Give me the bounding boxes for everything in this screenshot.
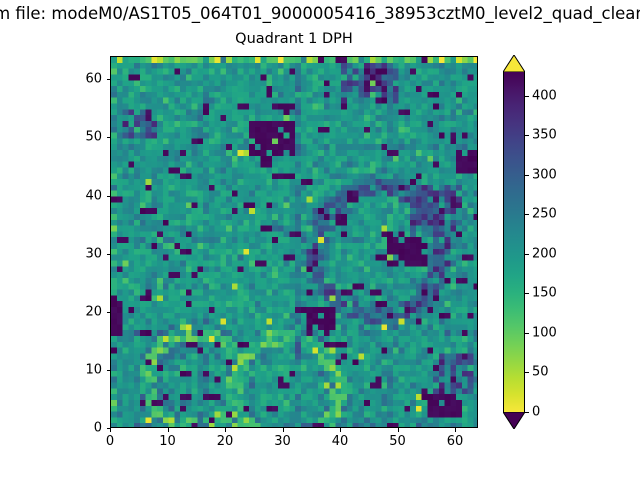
axes-title: Quadrant 1 DPH xyxy=(110,30,478,48)
x-tick-label: 0 xyxy=(106,434,114,449)
figure-suptitle: m file: modeM0/AS1T05_064T01_9000005416_… xyxy=(0,4,640,24)
colorbar-tick-mark xyxy=(525,293,529,294)
x-tick-mark xyxy=(340,428,341,432)
x-tick-mark xyxy=(455,428,456,432)
y-tick-mark xyxy=(107,254,111,255)
y-tick-mark xyxy=(107,312,111,313)
x-tick-label: 30 xyxy=(274,434,291,449)
x-tick-mark xyxy=(110,428,111,432)
x-tick-mark xyxy=(398,428,399,432)
colorbar-tick-label: 300 xyxy=(532,167,557,182)
colorbar-tick-mark xyxy=(525,254,529,255)
colorbar-tick-mark xyxy=(525,412,529,413)
colorbar-extend-bottom-arrow xyxy=(503,412,525,429)
colorbar-tick-mark xyxy=(525,96,529,97)
y-tick-label: 40 xyxy=(68,188,102,203)
heatmap-image xyxy=(111,57,478,428)
colorbar-tick-label: 400 xyxy=(532,88,557,103)
y-tick-label: 0 xyxy=(68,421,102,436)
colorbar-gradient xyxy=(503,72,525,412)
heatmap-axes xyxy=(110,56,478,428)
colorbar-extend-top-arrow xyxy=(503,55,525,72)
colorbar: 050100150200250300350400 xyxy=(503,55,623,431)
x-tick-label: 50 xyxy=(389,434,406,449)
colorbar-tick-mark xyxy=(525,372,529,373)
colorbar-tick-label: 200 xyxy=(532,246,557,261)
colorbar-tick-label: 250 xyxy=(532,207,557,222)
x-tick-mark xyxy=(283,428,284,432)
y-tick-mark xyxy=(107,196,111,197)
y-tick-mark xyxy=(107,137,111,138)
colorbar-tick-mark xyxy=(525,135,529,136)
colorbar-tick-label: 50 xyxy=(532,365,549,380)
y-tick-label: 50 xyxy=(68,130,102,145)
x-tick-mark xyxy=(168,428,169,432)
y-tick-mark xyxy=(107,370,111,371)
y-tick-mark xyxy=(107,428,111,429)
x-tick-label: 40 xyxy=(332,434,349,449)
y-tick-label: 30 xyxy=(68,246,102,261)
colorbar-tick-label: 350 xyxy=(532,128,557,143)
colorbar-tick-mark xyxy=(525,333,529,334)
matplotlib-figure: m file: modeM0/AS1T05_064T01_9000005416_… xyxy=(0,0,640,480)
y-tick-label: 60 xyxy=(68,72,102,87)
colorbar-tick-mark xyxy=(525,214,529,215)
x-tick-mark xyxy=(225,428,226,432)
colorbar-tick-mark xyxy=(525,175,529,176)
x-tick-label: 60 xyxy=(447,434,464,449)
colorbar-tick-label: 0 xyxy=(532,405,540,420)
x-tick-label: 10 xyxy=(159,434,176,449)
colorbar-tick-label: 150 xyxy=(532,286,557,301)
y-tick-label: 10 xyxy=(68,362,102,377)
y-tick-mark xyxy=(107,79,111,80)
y-tick-label: 20 xyxy=(68,304,102,319)
x-tick-label: 20 xyxy=(217,434,234,449)
colorbar-tick-label: 100 xyxy=(532,325,557,340)
